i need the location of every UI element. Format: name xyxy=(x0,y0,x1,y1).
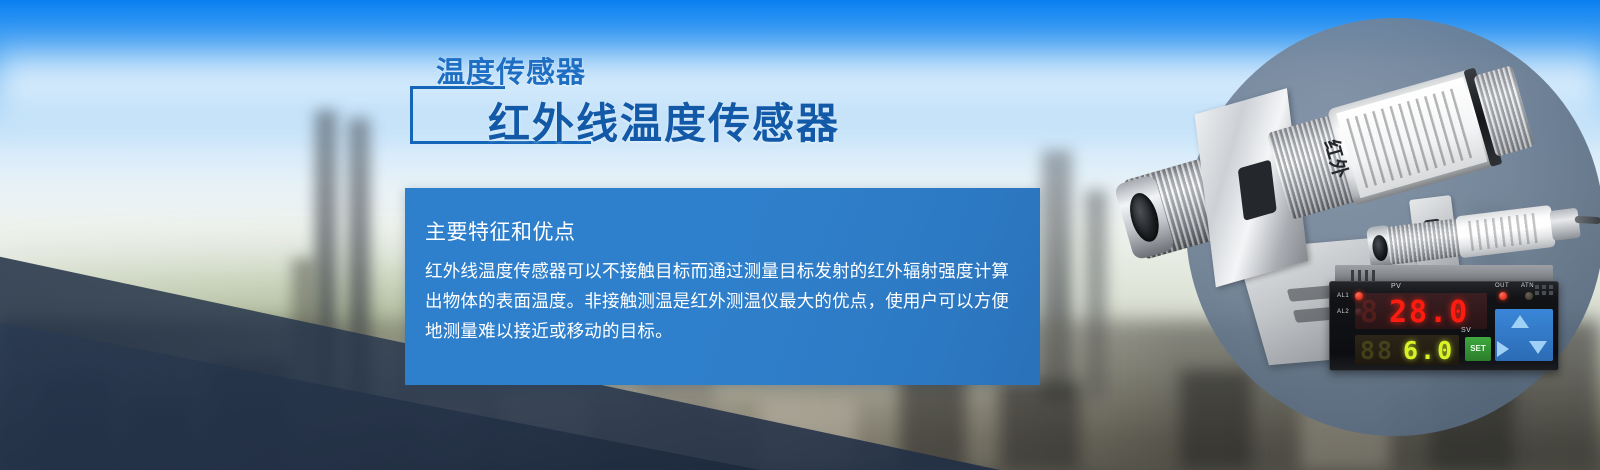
sensor-flange-hole xyxy=(1238,159,1277,221)
banner-subtitle: 温度传感器 xyxy=(436,59,586,88)
up-arrow-icon[interactable] xyxy=(1511,315,1529,328)
right-arrow-icon[interactable] xyxy=(1497,341,1509,357)
sv-value: 6.0 xyxy=(1403,336,1454,365)
atn-led-icon xyxy=(1525,292,1533,300)
alarm1-label: AL1 xyxy=(1337,293,1349,299)
out-led-icon xyxy=(1499,292,1507,300)
features-body-line: 红外线温度传感器可以不接触目标而通过测量目标发射的红外辐射强度计算 xyxy=(425,256,1026,286)
alarm2-label: AL2 xyxy=(1337,309,1349,315)
features-body-line: 地测量难以接近或移动的目标。 xyxy=(425,316,1026,346)
sensor-label xyxy=(1336,77,1487,198)
pv-ghost-digits: 8 xyxy=(1360,295,1380,330)
features-heading: 主要特征和优点 xyxy=(425,216,576,246)
features-body-line: 出物体的表面温度。非接触测温是红外测温仪最大的优点，使用户可以方便 xyxy=(425,286,1026,316)
banner-title: 红外线温度传感器 xyxy=(488,100,840,148)
small-sensor-cable xyxy=(1575,216,1600,224)
sv-ghost-digits: 88 xyxy=(1360,336,1394,365)
down-arrow-icon[interactable] xyxy=(1529,341,1547,354)
pv-value: 28.0 xyxy=(1389,295,1469,330)
controller-vent-grid xyxy=(1535,285,1553,299)
product-image-area: 红外 xyxy=(1120,0,1600,470)
pv-label: PV xyxy=(1391,283,1401,290)
features-body: 红外线温度传感器可以不接触目标而通过测量目标发射的红外辐射强度计算 出物体的表面… xyxy=(425,256,1026,346)
small-sensor-tail xyxy=(1549,208,1580,241)
features-panel: 主要特征和优点 红外线温度传感器可以不接触目标而通过测量目标发射的红外辐射强度计… xyxy=(405,188,1040,385)
temperature-controller: PV SV AL1 AL2 OUT ATN 8 28.0 88 6.0 SET xyxy=(1329,265,1559,371)
set-button[interactable]: SET xyxy=(1465,337,1491,361)
out-label: OUT xyxy=(1495,283,1509,289)
atn-label: ATN xyxy=(1521,283,1534,289)
product-banner: 温度传感器 红外线温度传感器 主要特征和优点 红外线温度传感器可以不接触目标而通… xyxy=(0,0,1600,470)
